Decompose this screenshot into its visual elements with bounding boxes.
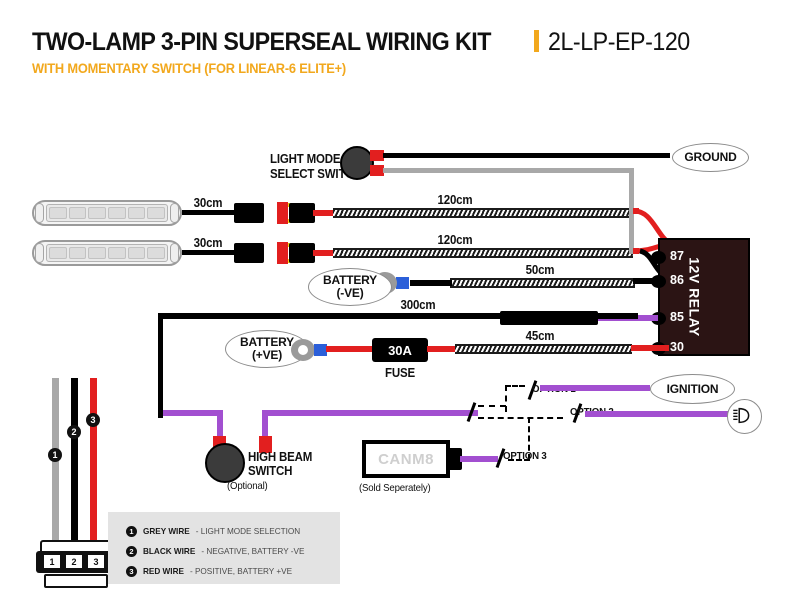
ignition-node: IGNITION <box>650 374 735 404</box>
light-mode-switch-label-line1: LIGHT MODE <box>270 152 340 166</box>
legend-number: 3 <box>126 566 137 577</box>
light-mode-switch-terminal-bottom <box>370 165 384 176</box>
grey-mode-wire-top <box>383 168 634 173</box>
header: TWO-LAMP 3-PIN SUPERSEAL WIRING KIT 2L-L… <box>32 28 701 76</box>
legend-wire-name: BLACK WIRE <box>143 547 195 556</box>
lamp-end-cap-right <box>170 243 179 263</box>
ground-node: GROUND <box>672 143 749 172</box>
connector-shell-bottom <box>44 574 108 588</box>
measure-positive-run: 300cm <box>401 298 436 312</box>
lamp1-sleeved-run <box>333 208 633 218</box>
relay-pin-30-label: 30 <box>670 340 684 354</box>
title-row: TWO-LAMP 3-PIN SUPERSEAL WIRING KIT 2L-L… <box>32 28 701 57</box>
led-lamp-1 <box>32 200 182 226</box>
measure-lamp2-lead: 30cm <box>194 236 223 250</box>
harness-wire-black <box>71 378 78 544</box>
relay-pin-85-label: 85 <box>670 310 684 324</box>
battery-pos-label-line2: (+VE) <box>252 349 282 362</box>
battery-pos-red-wire <box>326 346 374 352</box>
high-beam-label-line1: HIGH BEAM <box>248 450 312 464</box>
relay-pin-86-label: 86 <box>670 273 684 287</box>
lamp2-plug <box>234 243 264 263</box>
option-dash-join-upper <box>478 405 506 407</box>
lamp2-lead-wire <box>182 250 234 255</box>
fuse-rating: 30A <box>388 343 412 358</box>
lamp1-plug <box>234 203 264 223</box>
purple-wire-from-corner <box>163 410 223 416</box>
relay-feed-sleeved-run <box>455 344 632 354</box>
relay-pin-86-dot <box>651 275 666 288</box>
harness-number-1: 1 <box>48 448 62 462</box>
ground-wire <box>383 153 670 158</box>
relay-pin-87-label: 87 <box>670 249 684 263</box>
relay-pin-87-dot <box>651 251 666 264</box>
battery-neg-label-line2: (-VE) <box>337 287 364 300</box>
fuse-label: FUSE <box>385 366 415 380</box>
high-beam-note: (Optional) <box>227 480 268 492</box>
lamp2-red-pigtail <box>313 250 335 256</box>
harness-number-3: 3 <box>86 413 100 427</box>
lamp-end-cap-right <box>170 203 179 223</box>
legend-row: 2 BLACK WIRE - NEGATIVE, BATTERY -VE <box>126 546 304 557</box>
pin30-red-wire <box>631 345 669 351</box>
option1-dash-horizontal <box>505 385 525 387</box>
legend-wire-name: GREY WIRE <box>143 527 190 536</box>
legend-number: 1 <box>126 526 137 537</box>
light-mode-switch-terminal-top <box>370 150 384 161</box>
headlamp-purple-wire <box>585 411 730 417</box>
light-mode-select-switch[interactable] <box>340 146 374 180</box>
legend-wire-name: RED WIRE <box>143 567 184 576</box>
measure-relay-feed: 45cm <box>526 329 555 343</box>
purple-wire-to-option2 <box>262 410 478 416</box>
option1-dash-vertical <box>505 385 507 412</box>
measure-ground-run: 50cm <box>526 263 555 277</box>
option2-dash-horizontal <box>478 417 563 419</box>
canm8-purple-wire <box>460 456 498 462</box>
measure-lamp2-run: 120cm <box>438 233 473 247</box>
canm8-note: (Sold Seperately) <box>359 482 431 494</box>
legend-row: 1 GREY WIRE - LIGHT MODE SELECTION <box>126 526 300 537</box>
wiring-diagram-canvas: TWO-LAMP 3-PIN SUPERSEAL WIRING KIT 2L-L… <box>0 0 800 600</box>
high-beam-label-line2: SWITCH <box>248 464 292 478</box>
lamp-end-cap-left <box>35 243 44 263</box>
canm8-label: CANM8 <box>378 451 434 468</box>
battery-negative-node: BATTERY (-VE) <box>308 268 392 306</box>
lamp-end-cap-left <box>35 203 44 223</box>
battery-pos-ring-terminal <box>290 337 316 363</box>
title-divider-bar <box>534 30 539 52</box>
ignition-purple-wire <box>540 385 650 391</box>
negative-sleeved-run <box>450 278 635 288</box>
led-lamp-2 <box>32 240 182 266</box>
relay-label: 12V RELAY <box>686 257 702 336</box>
ignition-label: IGNITION <box>667 383 719 396</box>
legend-wire-desc: - NEGATIVE, BATTERY -VE <box>201 547 304 556</box>
legend-panel: 1 GREY WIRE - LIGHT MODE SELECTION 2 BLA… <box>108 512 340 584</box>
measure-lamp1-run: 120cm <box>438 193 473 207</box>
part-number: 2L-LP-EP-120 <box>548 28 690 57</box>
connector-pin-3: 3 <box>86 553 106 570</box>
option3-label: OPTION 3 <box>503 450 547 462</box>
lamp-led-row <box>46 204 168 222</box>
subtitle: WITH MOMENTARY SWITCH (FOR LINEAR-6 ELIT… <box>32 61 667 76</box>
high-beam-headlamp-icon <box>727 399 762 434</box>
legend-number: 2 <box>126 546 137 557</box>
positive-run-top-horizontal <box>158 313 638 319</box>
harness-wire-red <box>90 378 97 544</box>
high-beam-switch[interactable] <box>205 443 245 483</box>
legend-wire-desc: - LIGHT MODE SELECTION <box>196 527 300 536</box>
legend-wire-desc: - POSITIVE, BATTERY +VE <box>190 567 292 576</box>
positive-run-left-vertical <box>158 313 163 418</box>
harness-number-2: 2 <box>67 425 81 439</box>
lamp-led-row <box>46 244 168 262</box>
fuse-body: 30A <box>372 338 428 362</box>
fuse-output-red-wire <box>427 346 457 352</box>
connector-pin-1: 1 <box>42 553 62 570</box>
connector-pin-2: 2 <box>64 553 84 570</box>
measure-lamp1-lead: 30cm <box>194 196 223 210</box>
ground-label: GROUND <box>684 151 736 164</box>
canm8-module: CANM8 <box>362 440 450 478</box>
lamp2-sleeved-run <box>333 248 633 258</box>
legend-row: 3 RED WIRE - POSITIVE, BATTERY +VE <box>126 566 292 577</box>
negative-black-wire <box>410 280 452 286</box>
page-title: TWO-LAMP 3-PIN SUPERSEAL WIRING KIT <box>32 28 491 57</box>
lamp1-lead-wire <box>182 210 234 215</box>
lamp1-red-pigtail <box>313 210 335 216</box>
